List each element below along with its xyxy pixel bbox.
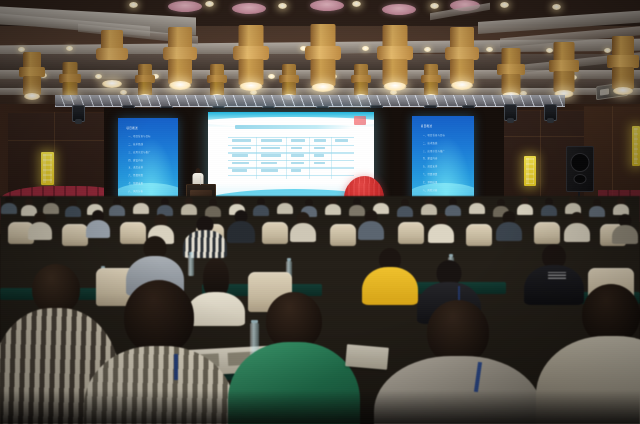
lanyard [174,354,178,380]
right-slide-line: 七、预期成果 [423,180,438,184]
moving-head-light [544,104,557,121]
ceiling-pink-disc [232,3,266,14]
ceiling-pink-disc [382,4,416,15]
pendant-light [162,27,198,93]
yellow-wall-light-panel [524,156,536,186]
conference-chair [62,224,88,246]
ceiling-downlight [424,47,431,52]
pendant-light [95,30,129,92]
audience-member [368,248,412,300]
pendant-light [304,24,342,96]
left-slide-line: 八、风险分析 [128,189,143,193]
pendant-light [444,27,480,93]
yellow-wall-light-panel [632,126,640,166]
left-slide-heading: 项目概述 [126,126,138,130]
right-slide-line: 一、项目背景与目标 [423,133,445,137]
ceiling-downlight [500,2,509,8]
left-slide-line: 三、应用示范与推广 [128,150,150,154]
right-slide-line: 八、风险分析 [423,188,438,192]
left-projection-screen: 项目概述 一、项目背景与目标 二、技术路线 三、应用示范与推广 四、建设内容 五… [118,118,178,204]
ceiling-downlight [430,3,439,9]
yellow-wall-light-panel [41,152,54,185]
pendant-light [496,48,526,102]
moving-head-light [72,105,85,122]
ceiling-downlight [278,3,287,9]
seated-audience [0,196,640,424]
right-projection-screen: 项目概述 一、项目背景与目标 二、技术路线 三、应用示范与推广 四、建设内容 五… [412,116,474,204]
left-slide-line: 七、预期成果 [128,181,143,185]
podium-microphone [200,176,201,185]
moving-head-light [504,104,517,121]
shirt-print [548,272,566,279]
wall-loudspeaker [566,146,594,192]
ceiling-downlight [205,1,214,7]
conference-chair [398,222,424,244]
conference-chair [466,224,492,246]
slide-title-bar [235,125,351,129]
right-slide-line: 二、技术路线 [423,141,438,145]
pendant-light [18,52,46,102]
slide-header-band [208,112,374,124]
ceiling-downlight [129,2,138,8]
ceiling-downlight [352,1,361,7]
left-slide-line: 四、建设内容 [128,158,143,162]
left-slide-line: 六、经费预算 [128,173,143,177]
ceiling-downlight [486,47,493,52]
right-slide-line: 五、进度安排 [423,164,438,168]
pendant-light [548,42,580,100]
right-slide-line: 六、经费预算 [423,172,438,176]
left-slide-line: 一、项目背景与目标 [128,134,150,138]
ceiling-downlight [66,46,73,51]
audience-member [188,216,222,254]
left-slide-line: 五、进度安排 [128,165,143,169]
right-slide-line: 三、应用示范与推广 [423,149,445,153]
pendant-light [376,25,414,95]
conference-chair [262,222,288,244]
right-slide-line: 四、建设内容 [423,156,438,160]
conference-chair [534,222,560,244]
slide-logo [354,116,366,126]
conference-hall-photo: 项目概述 一、项目背景与目标 二、技术路线 三、应用示范与推广 四、建设内容 五… [0,0,640,424]
left-slide-line: 二、技术路线 [128,142,143,146]
ceiling-downlight [362,46,369,51]
ceiling-pink-disc [168,1,202,12]
pendant-light [606,36,640,98]
ceiling-downlight [552,4,561,10]
printed-handout [345,344,389,370]
conference-chair [330,224,356,246]
right-slide-heading: 项目概述 [421,124,433,128]
pendant-light [232,25,270,95]
ceiling-pink-disc [310,0,344,11]
foreground-shadow [0,390,640,424]
slide-data-table [228,137,354,179]
